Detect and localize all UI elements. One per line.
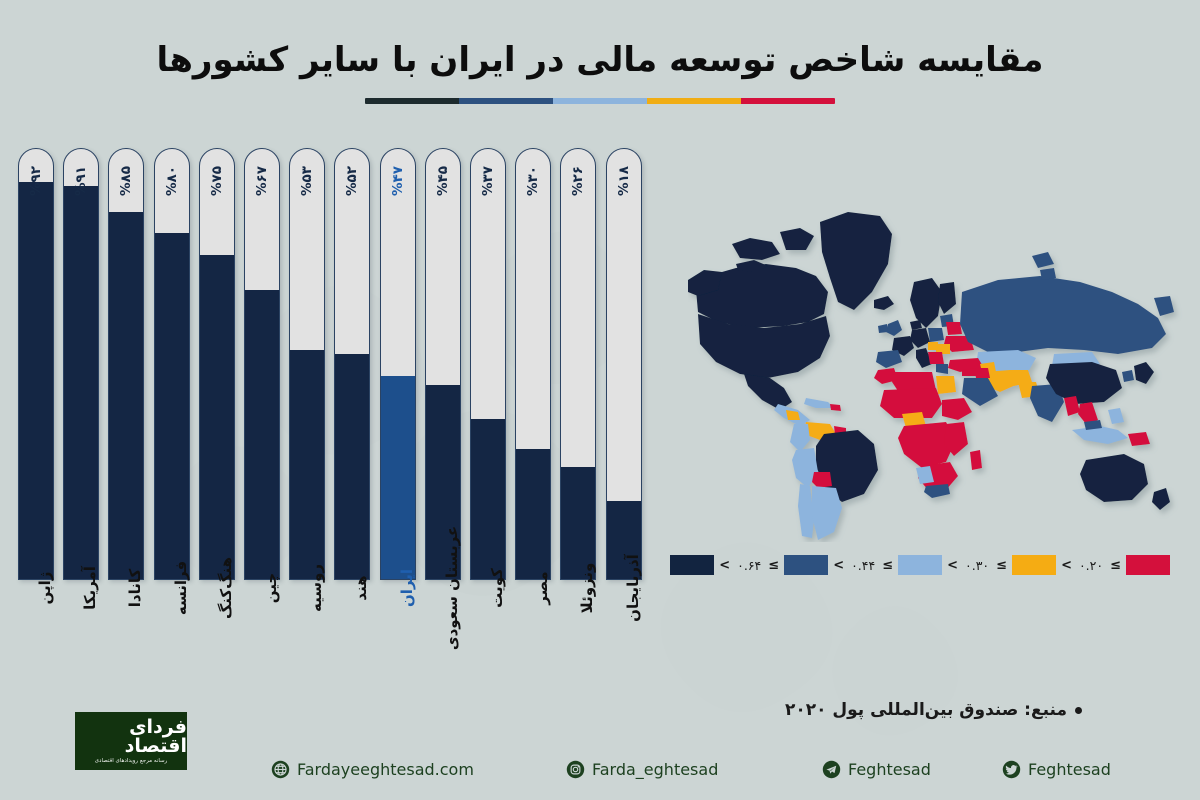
source-text: منبع: صندوق بین‌المللی پول ۲۰۲۰ [785,700,1067,720]
bar-value-label: %۷۵ [200,158,234,204]
legend-swatch [670,555,714,575]
country-haiti [830,404,841,411]
country-iraq [974,368,990,378]
country-uk [886,320,902,336]
telegram-icon [822,760,841,779]
bar-column[interactable]: %۸۰فرانسه [154,148,190,580]
world-map-svg [688,172,1188,542]
bar-fill [245,290,279,579]
bar-value-label: %۸۰ [155,158,189,204]
legend-swatch [784,555,828,575]
bar-track: %۱۸ [606,148,642,580]
bar-column[interactable]: %۹۲ژاپن [18,148,54,580]
bar-value-label: %۴۷ [381,158,415,204]
page-title: مقایسه شاخص توسعه مالی در ایران با سایر … [0,38,1200,82]
rule-segment-5 [365,98,459,104]
rule-segment-4 [459,98,553,104]
legend-threshold-value: ۰.۲۰ [1077,558,1105,573]
legend-threshold-value: ۰.۶۴ [735,558,763,573]
bar-track: %۹۲ [18,148,54,580]
country-madagascar [970,450,982,470]
rule-segment-1 [741,98,835,104]
country-bolivia [812,472,832,488]
rule-segment-3 [553,98,647,104]
legend-operator: ≤ [763,558,784,573]
bar-value-label: %۳۷ [471,158,505,204]
bar-track: %۸۰ [154,148,190,580]
social-bar: Fardayeeghtesad.com Farda_eghtesad Feght… [0,752,1200,786]
bar-track: %۵۲ [334,148,370,580]
world-map [688,172,1188,542]
bar-chart: %۹۲ژاپن%۹۱آمریکا%۸۵کانادا%۸۰فرانسه%۷۵هنگ… [18,140,678,580]
bar-column[interactable]: %۵۲هند [334,148,370,580]
map-legend: ≤۰.۲۰<≤۰.۳۰<≤۰.۴۴<≤۰.۶۴< [690,552,1170,578]
bar-column[interactable]: %۴۵عربستان سعودی [425,148,461,580]
country-russia [960,276,1166,354]
country-greece [936,364,948,374]
bar-column[interactable]: %۷۵هنگ‌کنگ [199,148,235,580]
country-korea [1122,370,1134,382]
bar-fill [200,255,234,579]
social-handle: Feghtesad [848,760,931,779]
country-finland [938,282,956,314]
bar-category-label: ایران [398,569,416,607]
bar-fill [19,182,53,579]
social-link-telegram[interactable]: Feghtesad [822,760,931,779]
country-chile [798,484,814,538]
bar-category-label: هند [352,575,370,600]
bar-category-label: عربستان سعودی [443,526,461,650]
country-mexico [744,374,792,410]
country-hungary [928,342,938,350]
russia-kamchatka [1154,296,1174,316]
legend-operator: ≤ [1105,558,1126,573]
bar-track: %۴۵ [425,148,461,580]
bar-column[interactable]: %۴۷ایران [380,148,416,580]
bar-column[interactable]: %۳۷کویت [470,148,506,580]
twitter-icon [1002,760,1021,779]
globe-icon [271,760,290,779]
bar-value-label: %۴۵ [426,158,460,204]
bar-value-label: %۹۲ [19,158,53,204]
bar-fill [516,449,550,579]
bar-value-label: %۳۰ [516,158,550,204]
bar-column[interactable]: %۸۵کانادا [108,148,144,580]
country-poland [928,328,944,342]
social-link-twitter[interactable]: Feghtesad [1002,760,1111,779]
legend-threshold-value: ۰.۴۴ [849,558,877,573]
legend-swatch [1012,555,1056,575]
bar-track: %۳۰ [515,148,551,580]
country-australia [1080,454,1148,502]
legend-operator: < [828,558,849,573]
bar-track: %۳۷ [470,148,506,580]
bar-column[interactable]: %۶۷چین [244,148,280,580]
legend-operator: < [1056,558,1077,573]
bar-fill [381,376,415,579]
bar-track: %۶۷ [244,148,280,580]
legend-operator: < [714,558,735,573]
country-japan [1134,362,1154,384]
bar-fill [335,354,369,579]
title-underline-rule [365,98,835,104]
country-png [1128,432,1150,446]
bar-track: %۴۷ [380,148,416,580]
instagram-icon [566,760,585,779]
legend-operator: < [942,558,963,573]
arctic-islands [732,238,780,260]
bar-fill [109,212,143,579]
bar-column[interactable]: %۳۰مصر [515,148,551,580]
source-line: منبع: صندوق بین‌المللی پول ۲۰۲۰ [785,700,1082,720]
bar-category-label: روسیه [307,564,325,612]
country-greenland [820,212,892,310]
arctic-islands-2 [780,228,814,250]
legend-operator: ≤ [877,558,898,573]
bar-track: %۲۶ [560,148,596,580]
bar-fill [155,233,189,579]
bar-category-label: فرانسه [172,561,190,615]
bar-fill [290,350,324,579]
russia-north-island-2 [1040,268,1056,280]
logo-title: فردای اقتصاد [75,718,187,756]
bar-category-label: چین [262,573,280,603]
legend-threshold-value: ۰.۳۰ [963,558,991,573]
map-landmasses [688,212,1174,540]
bar-category-label: کانادا [126,569,144,607]
country-new-zealand [1152,488,1170,510]
country-balkans [928,352,944,364]
social-link-website[interactable]: Fardayeeghtesad.com [271,760,474,779]
country-south-africa [924,484,950,498]
bar-fill [64,186,98,579]
country-colombia [790,424,810,452]
bar-category-label: کویت [488,568,506,608]
bar-fill [471,419,505,579]
bar-category-label: آذربایجان [624,554,642,622]
bar-track: %۹۱ [63,148,99,580]
country-ireland [878,324,888,333]
bar-category-label: مصر [533,571,551,604]
title-block: مقایسه شاخص توسعه مالی در ایران با سایر … [0,38,1200,104]
bar-track: %۵۳ [289,148,325,580]
bar-value-label: %۲۶ [561,158,595,204]
bar-value-label: %۶۷ [245,158,279,204]
bar-track: %۸۵ [108,148,144,580]
bar-column[interactable]: %۹۱آمریکا [63,148,99,580]
country-belarus [946,322,962,335]
country-spain-portugal [876,350,902,368]
social-handle: Fardayeeghtesad.com [297,760,474,779]
social-link-instagram[interactable]: Farda_eghtesad [566,760,718,779]
country-norway-sweden [910,278,942,328]
russia-north-island [1032,252,1054,268]
bar-value-label: %۱۸ [607,158,641,204]
country-indonesia [1072,426,1128,444]
bar-category-label: هنگ‌کنگ [217,557,235,619]
legend-operator: ≤ [991,558,1012,573]
country-argentina [812,486,842,540]
country-cuba [804,398,834,408]
bar-column[interactable]: %۲۶ونزوئلا [560,148,596,580]
bar-column[interactable]: %۱۸آذربایجان [606,148,642,580]
bullet-icon [1075,707,1082,714]
bar-value-label: %۵۲ [335,158,369,204]
bar-category-label: ونزوئلا [578,563,596,614]
country-egypt [936,376,956,394]
bar-track: %۷۵ [199,148,235,580]
social-handle: Feghtesad [1028,760,1111,779]
country-denmark [910,320,922,330]
bar-category-label: ژاپن [36,572,54,605]
country-philippines [1108,408,1124,424]
country-iceland [874,296,894,310]
bar-column[interactable]: %۵۳روسیه [289,148,325,580]
country-horn-africa [942,398,972,420]
bar-value-label: %۵۳ [290,158,324,204]
bar-category-label: آمریکا [81,566,99,610]
rule-segment-2 [647,98,741,104]
legend-swatch [898,555,942,575]
legend-swatch [1126,555,1170,575]
bar-value-label: %۹۱ [64,158,98,204]
bar-value-label: %۸۵ [109,158,143,204]
social-handle: Farda_eghtesad [592,760,718,779]
